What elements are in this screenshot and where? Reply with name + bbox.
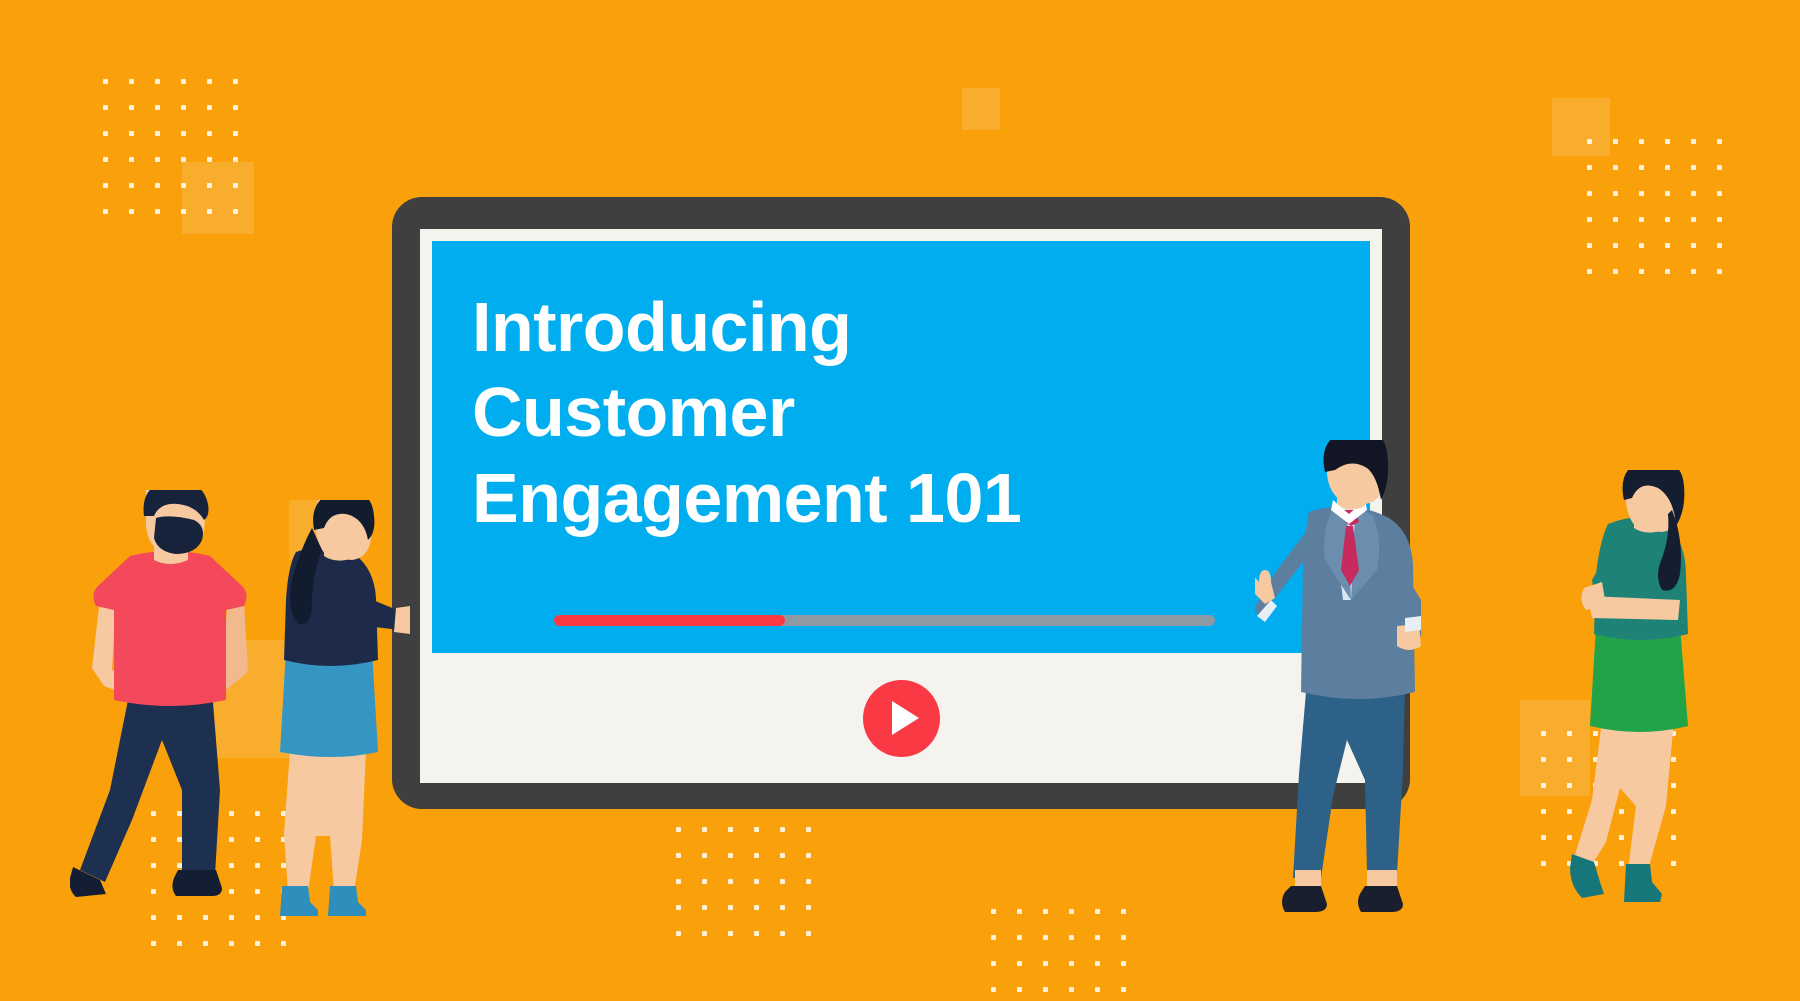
play-triangle-icon bbox=[892, 701, 919, 735]
person-suited-man bbox=[1255, 440, 1435, 925]
tablet-bezel: Introducing Customer Engagement 101 bbox=[420, 229, 1382, 783]
person-ponytail-woman bbox=[250, 500, 410, 925]
dot-grid-top-left bbox=[92, 68, 248, 224]
play-button[interactable] bbox=[863, 680, 940, 757]
player-controls-bar bbox=[432, 653, 1370, 783]
deco-square-top-center bbox=[962, 88, 1000, 130]
video-progress-track[interactable] bbox=[554, 615, 1215, 626]
dot-grid-bottom-center bbox=[980, 898, 1136, 1001]
video-progress-fill bbox=[554, 615, 785, 626]
person-green-skirt-woman bbox=[1570, 470, 1710, 925]
illustration-canvas: Introducing Customer Engagement 101 bbox=[0, 0, 1800, 1001]
dot-grid-center-bottom bbox=[665, 790, 821, 946]
page-title: Introducing Customer Engagement 101 bbox=[472, 285, 1330, 541]
person-bearded-man bbox=[70, 490, 280, 920]
dot-grid-top-right bbox=[1576, 128, 1732, 284]
video-screen[interactable]: Introducing Customer Engagement 101 bbox=[432, 241, 1370, 653]
